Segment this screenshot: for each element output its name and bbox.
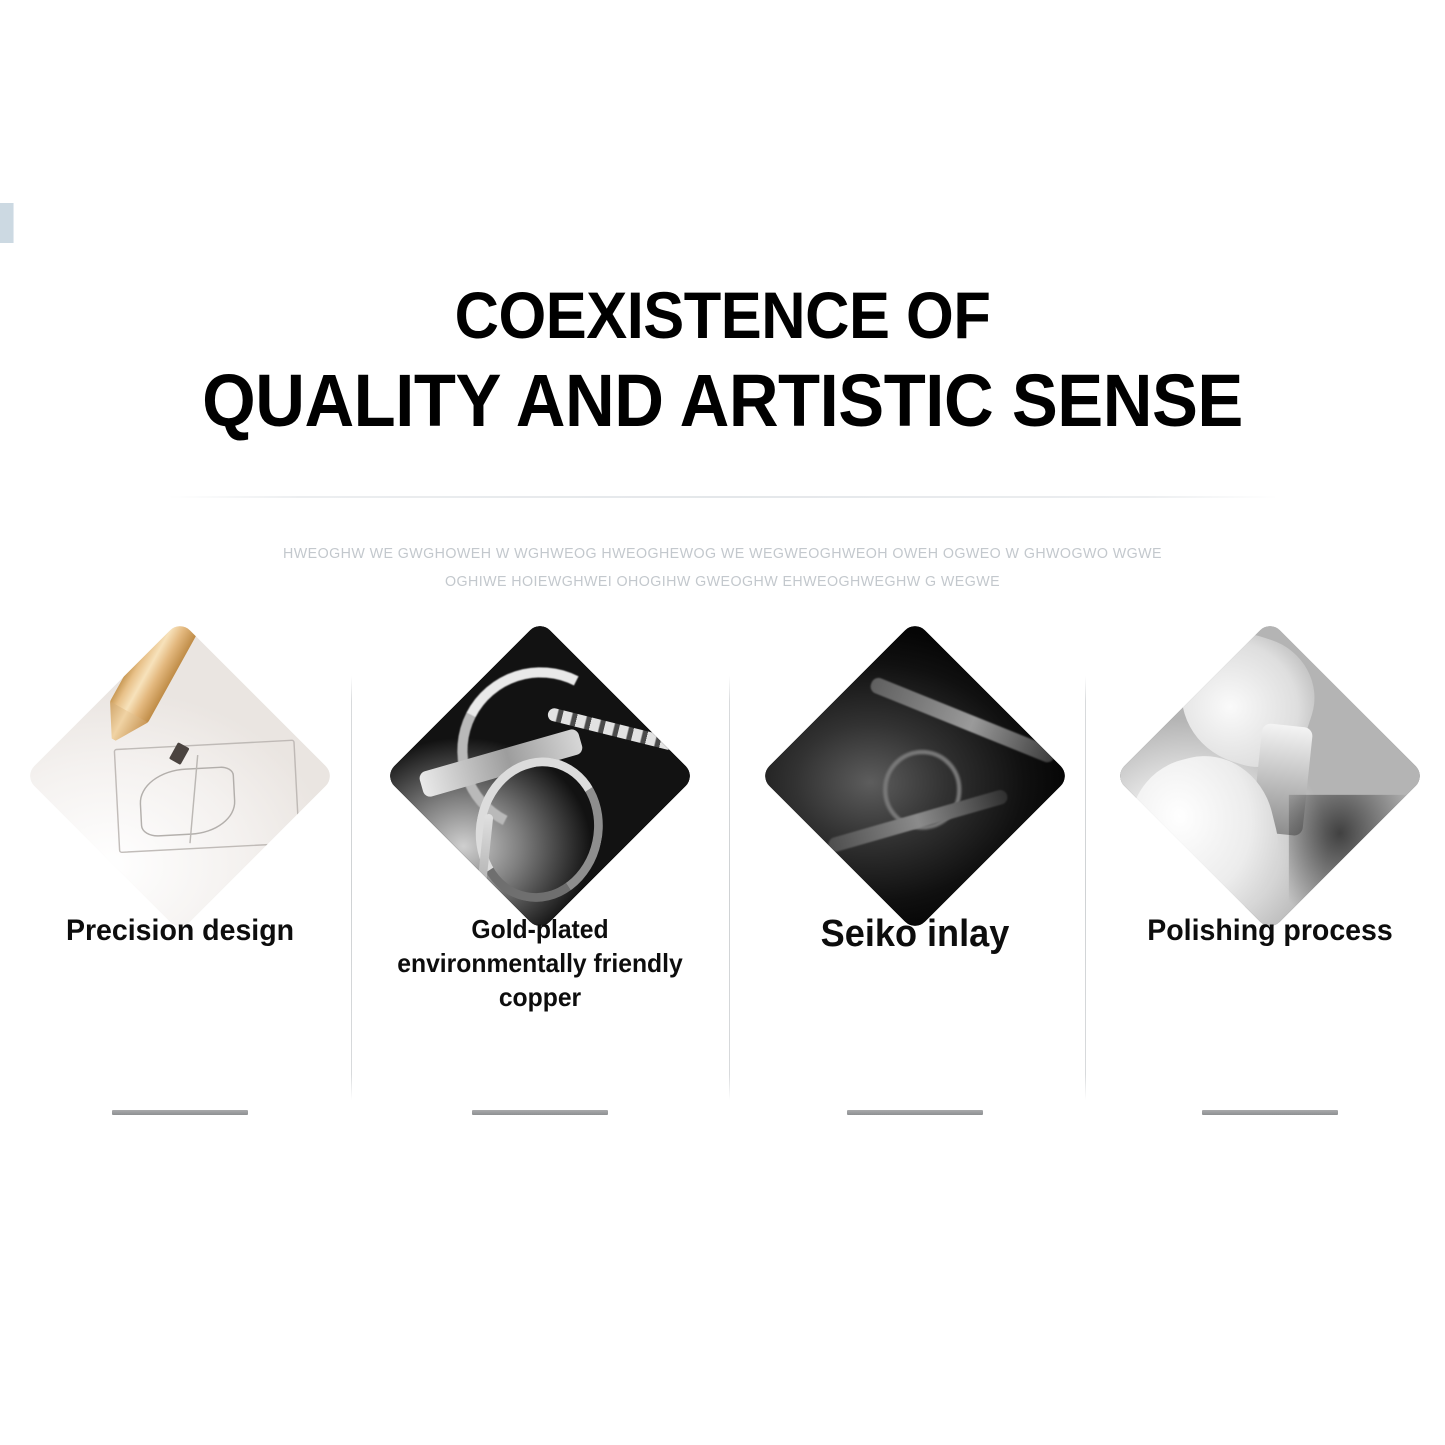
gold-plated-jewellery-photo [384,620,695,931]
subtitle-block: HWEOGHW WE GWGHOWEH W WGHWEOG HWEOGHEWOG… [0,540,1445,596]
process-columns: Precision design Gold-plated environment… [0,660,1445,1130]
diamond-thumbnail[interactable] [805,666,1025,886]
pencil-sketch-photo [24,620,335,931]
subtitle-line-1: HWEOGHW WE GWGHOWEH W WGHWEOG HWEOGHEWOG… [36,540,1409,568]
diamond-thumbnail[interactable] [1160,666,1380,886]
process-label: Gold-plated environmentally friendly cop… [379,912,702,1014]
process-underline [112,1110,248,1115]
sketch-lines [114,739,301,853]
pencil-body [109,620,230,723]
column-separator-3 [1085,676,1086,1100]
polish-shadow [1289,795,1417,923]
process-label: Precision design [19,912,342,950]
subtitle-line-2: OGHIWE HOIEWGHWEI OHOGIHW GWEOGHW EHWEOG… [36,568,1409,596]
plated-jewellery-image [384,620,695,931]
diamond-thumbnail[interactable] [70,666,290,886]
column-separator-1 [351,676,352,1100]
process-item-seiko-inlay[interactable]: Seiko inlay [745,660,1085,1130]
pencil-sketch-image [24,620,335,931]
left-edge-marker [0,203,14,243]
process-underline [1202,1110,1338,1115]
headline-line-2: QUALITY AND ARTISTIC SENSE [51,355,1395,447]
polishing-wheel-image [1114,620,1425,931]
inlay-tool-upper [868,676,1057,765]
diamond-thumbnail[interactable] [430,666,650,886]
column-separator-2 [729,676,730,1100]
stone-inlay-image [759,620,1070,931]
process-item-polishing-process[interactable]: Polishing process [1100,660,1440,1130]
page-title: COEXISTENCE OF QUALITY AND ARTISTIC SENS… [0,275,1445,447]
product-detail-banner: COEXISTENCE OF QUALITY AND ARTISTIC SENS… [0,0,1445,1445]
process-underline [847,1110,983,1115]
process-underline [472,1110,608,1115]
process-label: Seiko inlay [754,912,1077,956]
process-item-precision-design[interactable]: Precision design [10,660,350,1130]
headline-line-1: COEXISTENCE OF [51,275,1395,355]
title-divider [168,496,1278,498]
stone-inlay-photo [759,620,1070,931]
process-item-gold-plated-copper[interactable]: Gold-plated environmentally friendly cop… [370,660,710,1130]
process-label: Polishing process [1109,912,1432,950]
polishing-wheel-photo [1114,620,1425,931]
